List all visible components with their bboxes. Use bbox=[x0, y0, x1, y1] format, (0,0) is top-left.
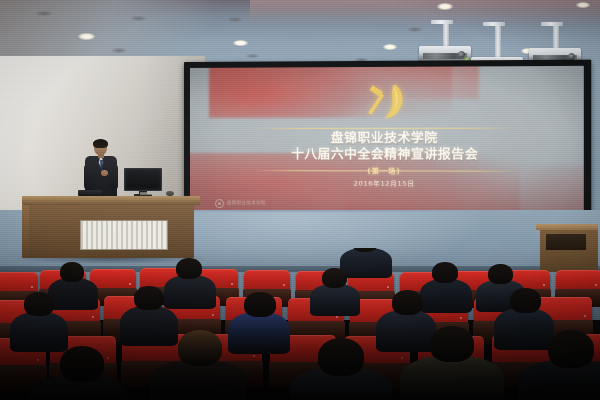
downlight-1 bbox=[78, 33, 95, 40]
audience-member-head bbox=[548, 330, 594, 368]
ceiling-vent-7 bbox=[408, 27, 422, 32]
audience-member-head bbox=[24, 292, 54, 316]
ceiling-vent-3 bbox=[131, 16, 146, 21]
projector-right-arm bbox=[553, 26, 559, 48]
audience-member-torso bbox=[400, 356, 504, 400]
ceiling-vent-2 bbox=[112, 48, 126, 53]
projector-center-arm bbox=[495, 26, 501, 57]
audience-member-head bbox=[318, 338, 364, 376]
projector-right-ceiling-plate bbox=[541, 22, 563, 26]
projector-center-ceiling-plate bbox=[483, 22, 505, 26]
seat-stud bbox=[92, 316, 94, 318]
audience-member-torso bbox=[120, 306, 178, 346]
seat-stud bbox=[37, 359, 39, 361]
lecture-hall-photo: 盘锦职业技术学院 十八届六中全会精神宣讲报告会 (第一场) 2016年12月15… bbox=[0, 0, 600, 400]
audience-member-head bbox=[60, 346, 104, 382]
downlight-3 bbox=[383, 44, 397, 50]
projection-screen-surface: 盘锦职业技术学院 十八届六中全会精神宣讲报告会 (第一场) 2016年12月15… bbox=[190, 66, 584, 217]
seat-stud bbox=[253, 355, 255, 357]
projection-vignette bbox=[190, 66, 584, 217]
audience-member-head bbox=[178, 330, 222, 366]
seat-backrest bbox=[0, 272, 38, 293]
monitor-screen bbox=[124, 168, 162, 191]
downlight-2 bbox=[233, 40, 248, 46]
audience-area bbox=[0, 248, 600, 400]
audience-member-head bbox=[488, 264, 513, 284]
presenter-hand bbox=[101, 170, 108, 176]
audience-member-head bbox=[430, 326, 474, 362]
audience-member-torso bbox=[164, 275, 216, 309]
seat-backrest bbox=[556, 270, 600, 291]
audience-member-head bbox=[392, 290, 423, 315]
presenter-arm-left bbox=[84, 164, 94, 190]
audience-member-head bbox=[176, 258, 202, 279]
seat-stud bbox=[107, 357, 109, 359]
audience-member-torso bbox=[310, 284, 360, 316]
seat-stud bbox=[460, 317, 462, 319]
audience-member-torso bbox=[376, 310, 436, 352]
presenter-hair bbox=[93, 139, 108, 148]
podium-equipment bbox=[78, 190, 102, 196]
audience-member-torso bbox=[48, 278, 98, 310]
podium-mouse bbox=[166, 191, 174, 196]
audience-member-head bbox=[60, 262, 84, 282]
projection-screen-frame: 盘锦职业技术学院 十八届六中全会精神宣讲报告会 (第一场) 2016年12月15… bbox=[184, 60, 591, 225]
audience-member-torso bbox=[420, 279, 472, 313]
ceiling-vent-1 bbox=[36, 11, 52, 16]
downlight-4 bbox=[437, 3, 453, 10]
seat-stud bbox=[401, 357, 403, 359]
audience-member-head bbox=[322, 268, 347, 288]
audience-member-head bbox=[432, 262, 458, 283]
seat-stud bbox=[584, 315, 586, 317]
audience-member-torso bbox=[494, 308, 554, 350]
projector-left-arm bbox=[443, 24, 449, 46]
audience-member-torso bbox=[10, 312, 68, 352]
audience-member-head bbox=[134, 286, 164, 310]
seat-backrest bbox=[244, 270, 290, 291]
projector-left-lens bbox=[458, 51, 465, 58]
audience-member-torso bbox=[228, 312, 290, 354]
ceiling-vent-4 bbox=[228, 17, 242, 22]
podium-top-surface bbox=[22, 196, 200, 205]
projector-left-ceiling-plate bbox=[431, 20, 453, 24]
podium-vent-grill bbox=[80, 220, 168, 250]
cabinet-top bbox=[536, 224, 598, 230]
seat-stud bbox=[212, 314, 214, 316]
audience-member-head bbox=[244, 292, 276, 317]
ceiling-vent-5 bbox=[246, 54, 259, 58]
presenter-arm-right bbox=[108, 164, 118, 190]
audience-member-torso bbox=[150, 360, 246, 400]
podium-papers bbox=[140, 192, 154, 195]
audience-member-head bbox=[510, 288, 541, 313]
downlight-6 bbox=[576, 2, 590, 8]
audience-member-torso bbox=[340, 248, 392, 278]
